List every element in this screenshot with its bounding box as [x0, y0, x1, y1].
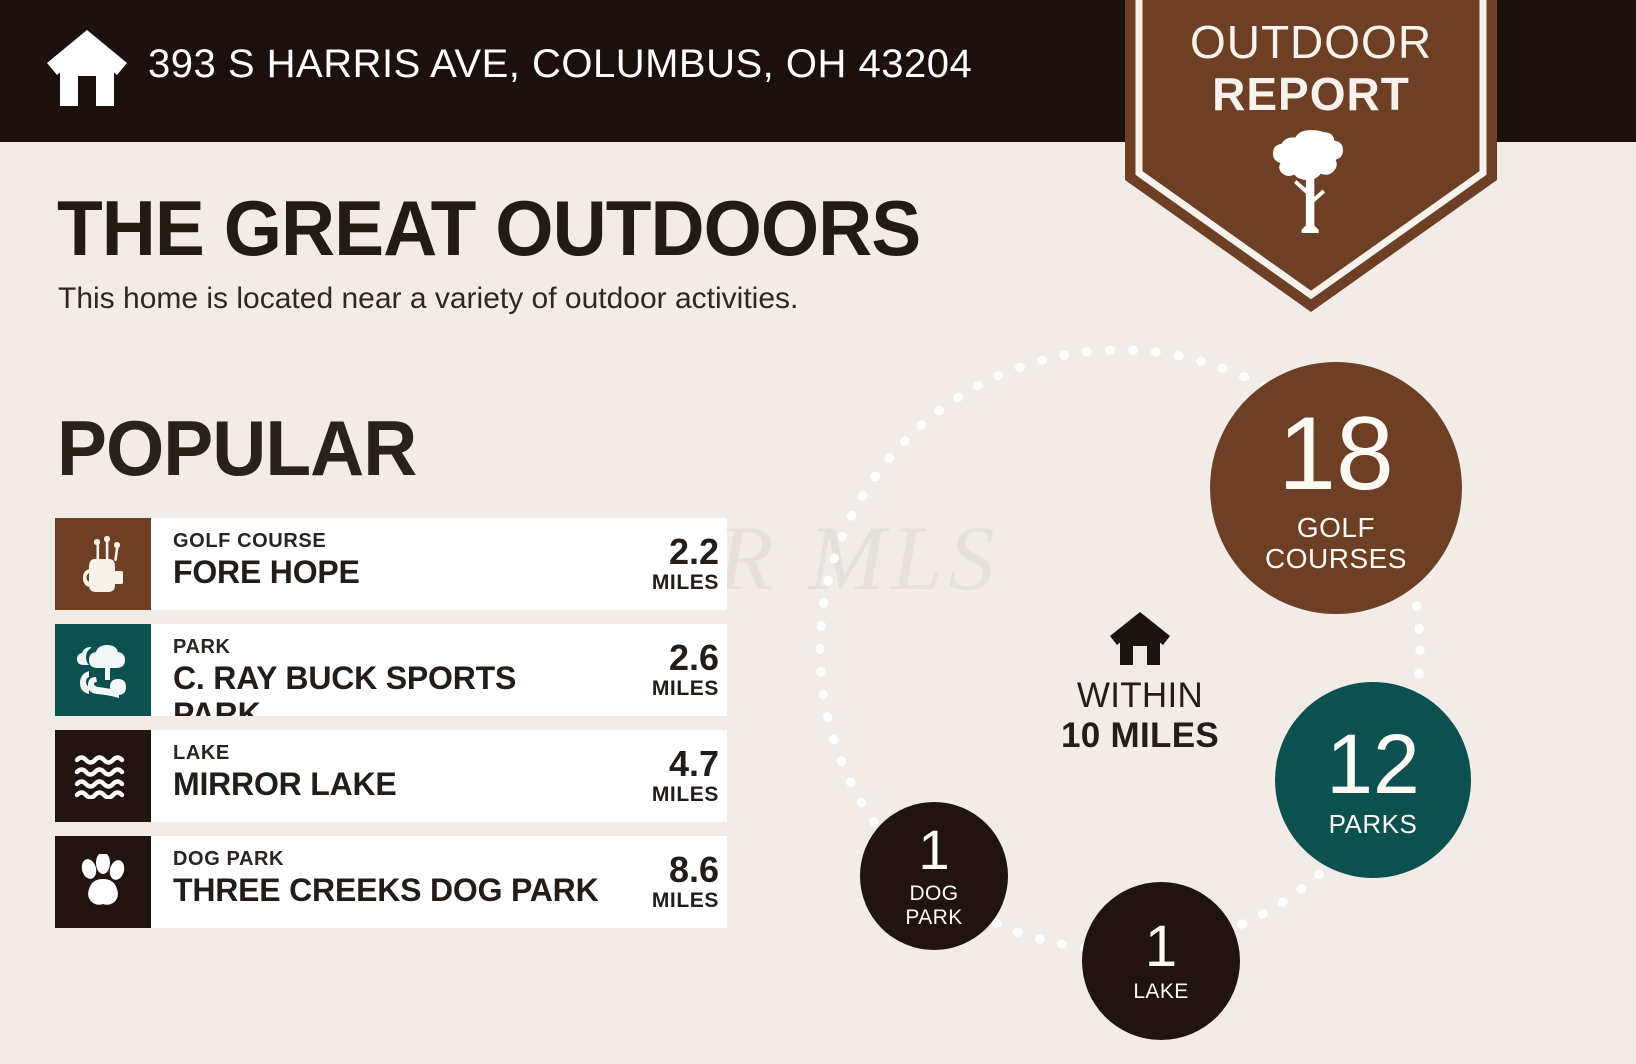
- row-distance-block: 2.2 MILES: [611, 518, 727, 610]
- row-text: LAKE MIRROR LAKE: [151, 730, 611, 822]
- list-item[interactable]: DOG PARK THREE CREEKS DOG PARK 8.6 MILES: [55, 836, 727, 928]
- lake-count: 1: [1145, 918, 1177, 976]
- row-name: THREE CREEKS DOG PARK: [173, 872, 611, 908]
- row-distance-unit: MILES: [652, 677, 719, 701]
- row-distance-block: 2.6 MILES: [611, 624, 727, 716]
- park-trees-icon: [74, 641, 132, 699]
- outdoor-report-badge: OUTDOOR REPORT: [1125, 0, 1497, 312]
- page-title: THE GREAT OUTDOORS: [57, 186, 920, 270]
- row-distance: 2.2: [669, 533, 719, 571]
- row-distance-block: 8.6 MILES: [611, 836, 727, 928]
- parks-label: PARKS: [1329, 810, 1418, 839]
- row-distance: 2.6: [669, 639, 719, 677]
- row-icon-tile: [55, 624, 151, 716]
- row-name: FORE HOPE: [173, 554, 611, 590]
- row-distance: 4.7: [669, 745, 719, 783]
- row-category: PARK: [173, 636, 611, 658]
- popular-heading: POPULAR: [57, 406, 416, 490]
- row-category: DOG PARK: [173, 848, 611, 870]
- row-category: LAKE: [173, 742, 611, 764]
- diagram-center-label: WITHIN 10 MILES: [1020, 610, 1260, 756]
- center-line-1: WITHIN: [1020, 676, 1260, 716]
- stat-circle-parks: 12 PARKS: [1275, 682, 1471, 878]
- row-distance-unit: MILES: [652, 783, 719, 807]
- dog-park-label: DOG PARK: [905, 882, 962, 930]
- parks-count: 12: [1326, 722, 1419, 806]
- stat-circle-lake: 1 LAKE: [1082, 882, 1240, 1040]
- row-icon-tile: [55, 518, 151, 610]
- within-10-miles-diagram: 18 GOLF COURSES 12 PARKS 1 DOG PARK 1 LA…: [790, 330, 1570, 1064]
- dog-park-count: 1: [918, 822, 949, 878]
- list-item[interactable]: GOLF COURSE FORE HOPE 2.2 MILES: [55, 518, 727, 610]
- list-item[interactable]: PARK C. RAY BUCK SPORTS PARK 2.6 MILES: [55, 624, 727, 716]
- row-category: GOLF COURSE: [173, 530, 611, 552]
- badge-shield-shape: [1125, 0, 1497, 312]
- row-distance-unit: MILES: [652, 889, 719, 913]
- golf-bag-icon: [77, 535, 129, 593]
- stat-circle-dog-park: 1 DOG PARK: [860, 802, 1008, 950]
- row-distance-block: 4.7 MILES: [611, 730, 727, 822]
- row-icon-tile: [55, 730, 151, 822]
- row-text: GOLF COURSE FORE HOPE: [151, 518, 611, 610]
- list-item[interactable]: LAKE MIRROR LAKE 4.7 MILES: [55, 730, 727, 822]
- stat-circle-golf-courses: 18 GOLF COURSES: [1210, 362, 1462, 614]
- page-subtitle: This home is located near a variety of o…: [58, 282, 798, 316]
- house-icon: [1109, 610, 1171, 666]
- paw-print-icon: [76, 854, 130, 910]
- golf-courses-count: 18: [1278, 402, 1394, 506]
- house-icon: [46, 28, 128, 108]
- row-distance-unit: MILES: [652, 571, 719, 595]
- row-name: C. RAY BUCK SPORTS PARK: [173, 660, 611, 716]
- row-text: DOG PARK THREE CREEKS DOG PARK: [151, 836, 611, 928]
- lake-label: LAKE: [1133, 980, 1188, 1004]
- row-text: PARK C. RAY BUCK SPORTS PARK: [151, 624, 611, 716]
- golf-courses-label: GOLF COURSES: [1265, 512, 1407, 574]
- center-line-2: 10 MILES: [1020, 716, 1260, 756]
- row-icon-tile: [55, 836, 151, 928]
- infographic-canvas: CR MLS 18 GOLF COURSES 12 PARKS 1 DOG PA…: [0, 0, 1636, 1064]
- row-name: MIRROR LAKE: [173, 766, 611, 802]
- row-distance: 8.6: [669, 851, 719, 889]
- popular-list: GOLF COURSE FORE HOPE 2.2 MILES: [55, 518, 727, 942]
- property-address: 393 S HARRIS AVE, COLUMBUS, OH 43204: [148, 42, 972, 87]
- water-waves-icon: [74, 753, 132, 799]
